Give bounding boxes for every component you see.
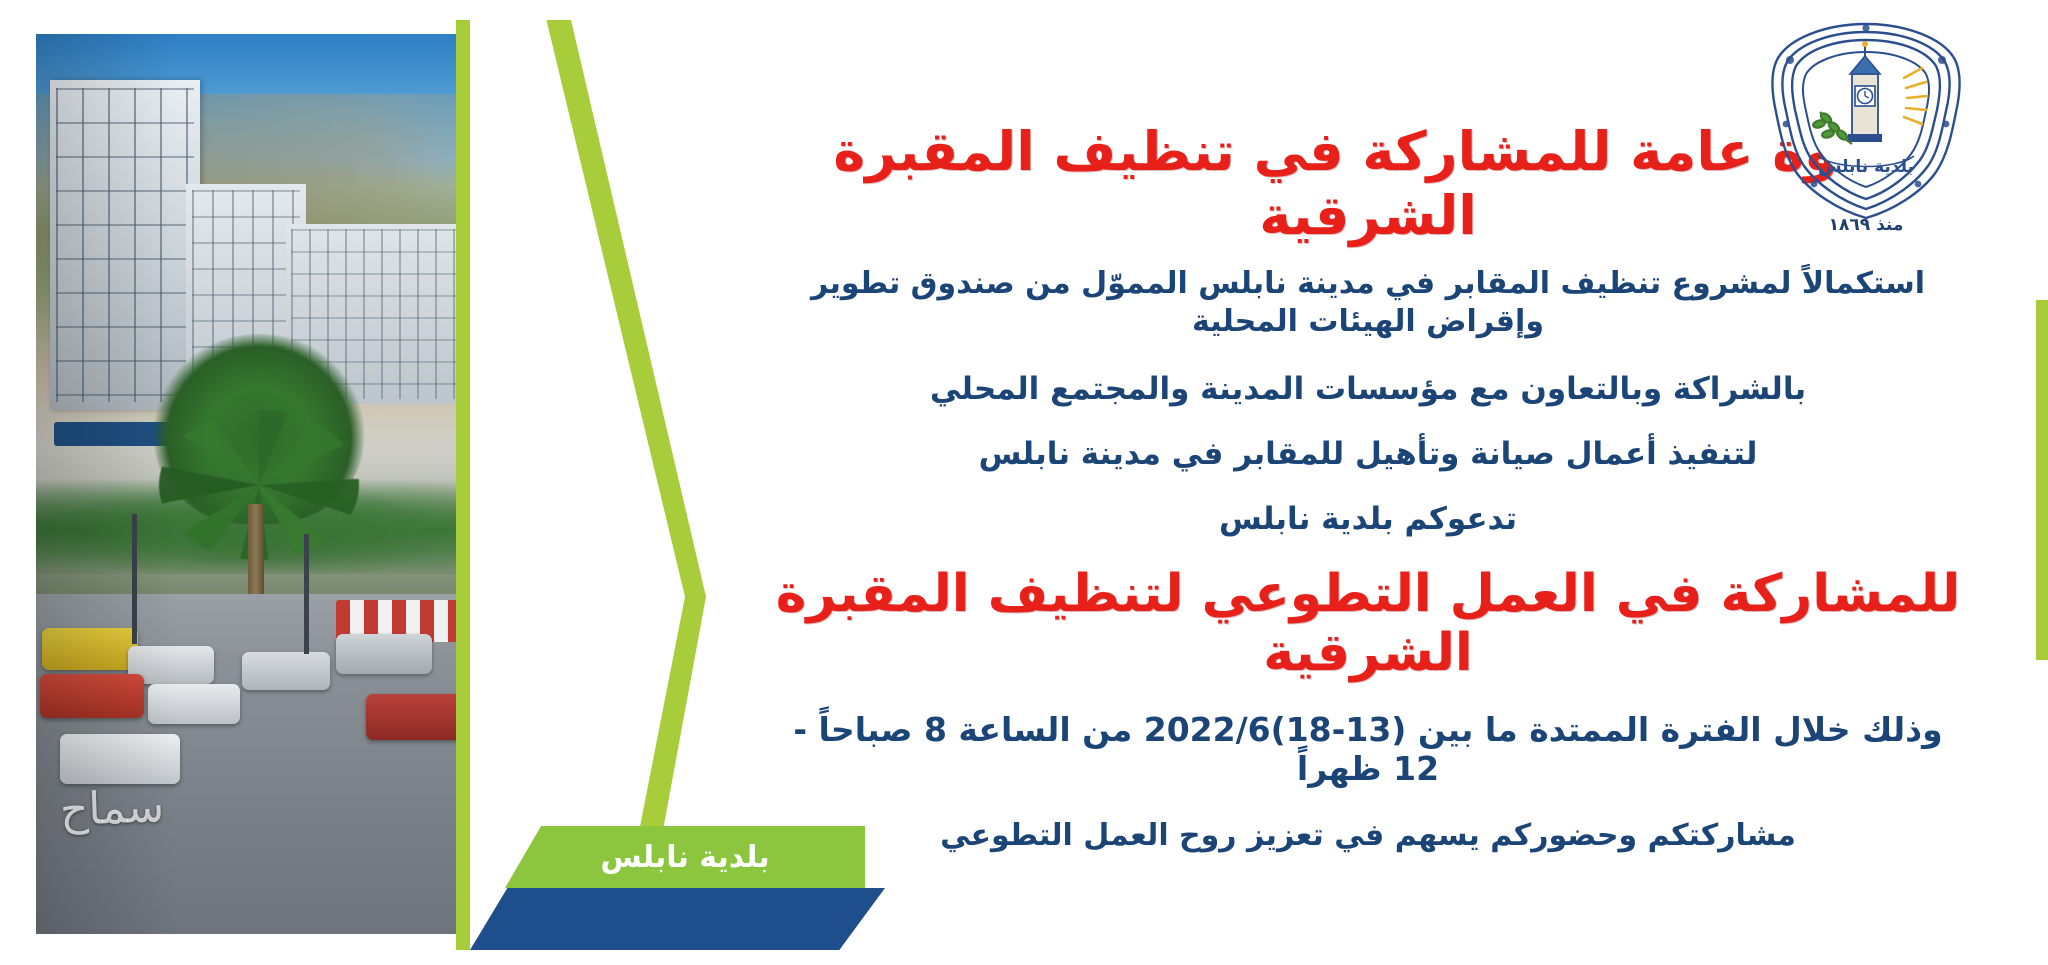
body-line-1: استكمالاً لمشروع تنظيف المقابر في مدينة … [768,265,1968,340]
poster-headline-secondary: للمشاركة في العمل التطوعي لتنظيف المقبرة… [768,565,1968,685]
body-line-2: بالشراكة وبالتعاون مع مؤسسات المدينة وال… [768,370,1968,409]
poster-canvas: سماح [0,0,2048,965]
body-line-4: تدعوكم بلدية نابلس [768,500,1968,539]
right-green-accent-bar [2036,300,2048,660]
body-line-3: لتنفيذ أعمال صيانة وتأهيل للمقابر في مدي… [768,435,1968,474]
footer-banner-label: بلدية نابلس [600,840,769,875]
nablus-municipality-logo: بلدية نابلس منذ ١٨٦٩ [1756,16,1976,231]
footer-blue-banner [470,888,885,950]
svg-text:بلدية نابلس: بلدية نابلس [1818,157,1914,177]
logo-since-year: منذ ١٨٦٩ [1756,215,1976,235]
closing-line: مشاركتكم وحضوركم يسهم في تعزيز روح العمل… [768,818,1968,853]
photo-watermark: سماح [59,781,165,836]
city-photo-panel: سماح [36,34,506,934]
event-date-line: وذلك خلال الفترة الممتدة ما بين (13-18)2… [768,710,1968,788]
